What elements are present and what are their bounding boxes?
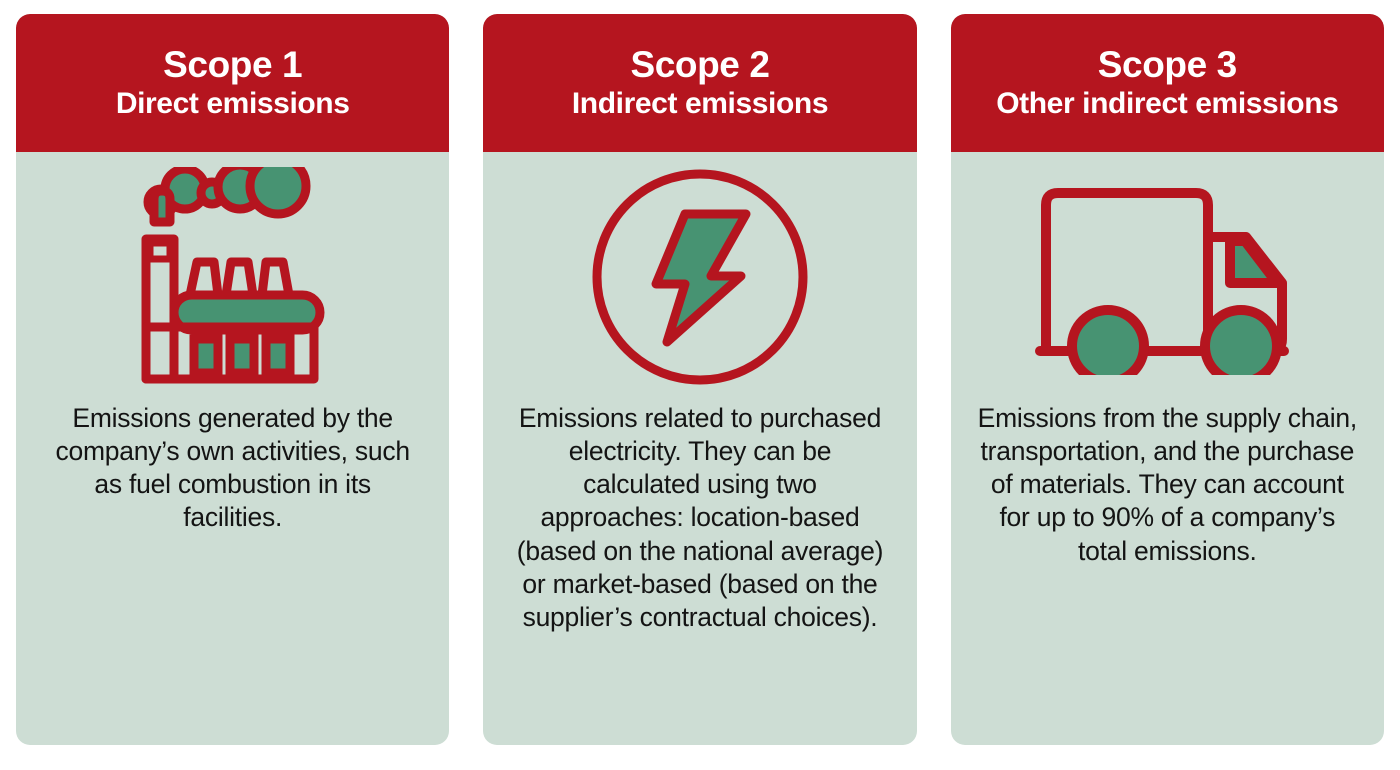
- scope-card-3-body: Emissions from the supply chain, transpo…: [951, 402, 1384, 745]
- scope-card-3-header: Scope 3 Other indirect emissions: [951, 14, 1384, 152]
- scope-card-3-title: Scope 3: [1098, 44, 1237, 85]
- delivery-truck-icon: [1034, 179, 1300, 375]
- scope-card-1-body: Emissions generated by the company’s own…: [16, 402, 449, 745]
- scope-card-3-subtitle: Other indirect emissions: [996, 87, 1338, 122]
- scope-card-2-body-text: Emissions related to purchased electrici…: [509, 402, 890, 634]
- scope-card-1: Scope 1 Direct emissions: [16, 14, 449, 745]
- scope-card-3-icon-area: [951, 152, 1384, 402]
- scope-card-2: Scope 2 Indirect emissions Emissions rel…: [483, 14, 916, 745]
- scope-card-2-subtitle: Indirect emissions: [572, 87, 828, 122]
- scope-card-1-subtitle: Direct emissions: [116, 87, 350, 122]
- scope-card-1-title: Scope 1: [163, 44, 302, 85]
- scope-card-1-header: Scope 1 Direct emissions: [16, 14, 449, 152]
- scope-card-1-icon-area: [16, 152, 449, 402]
- scope-card-2-body: Emissions related to purchased electrici…: [483, 402, 916, 745]
- scope-card-2-icon-area: [483, 152, 916, 402]
- scope-card-2-header: Scope 2 Indirect emissions: [483, 14, 916, 152]
- lightning-bolt-circle-icon: [589, 166, 811, 388]
- scopes-infographic: Scope 1 Direct emissions: [0, 0, 1400, 770]
- scope-card-1-body-text: Emissions generated by the company’s own…: [42, 402, 423, 535]
- scope-card-3: Scope 3 Other indirect emissions: [951, 14, 1384, 745]
- factory-icon: [138, 167, 328, 387]
- scope-card-3-body-text: Emissions from the supply chain, transpo…: [977, 402, 1358, 568]
- scope-card-2-title: Scope 2: [630, 44, 769, 85]
